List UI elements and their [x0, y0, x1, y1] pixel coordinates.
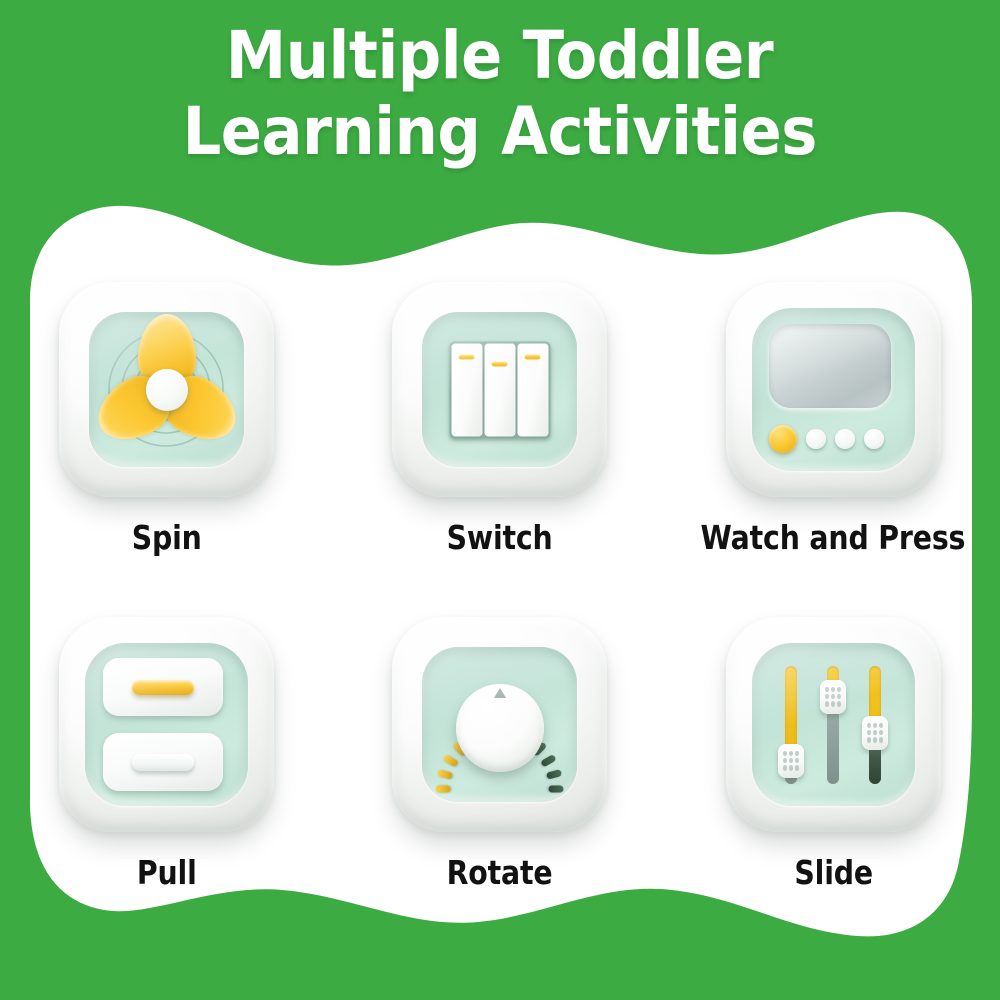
- slider-2[interactable]: [820, 666, 846, 784]
- knob-tick: [546, 769, 562, 780]
- rocker-switch-1[interactable]: [451, 343, 482, 436]
- slider-3[interactable]: [862, 666, 888, 784]
- tile-inner-panel: [85, 643, 248, 806]
- knob-tick: [437, 769, 453, 780]
- tile-inner-panel: [89, 312, 244, 467]
- press-button-1[interactable]: [806, 429, 826, 449]
- pull-panel-bottom[interactable]: [103, 733, 223, 791]
- activity-tile-pull[interactable]: [59, 617, 274, 832]
- page-header: Multiple Toddler Learning Activities: [0, 0, 1000, 200]
- activity-tile-slide[interactable]: [726, 617, 941, 832]
- knob-tick: [549, 785, 564, 792]
- knob-tick: [436, 785, 451, 792]
- activity-item-spin[interactable]: Spin: [17, 282, 317, 617]
- activity-item-rotate[interactable]: Rotate: [350, 617, 650, 952]
- tile-inner-panel: [752, 308, 915, 471]
- pull-panel-top[interactable]: [103, 658, 223, 716]
- press-button-2[interactable]: [835, 429, 855, 449]
- rocker-switch-3[interactable]: [517, 343, 548, 436]
- activity-tile-spin[interactable]: [59, 282, 274, 497]
- rocker-switch-2[interactable]: [484, 343, 515, 436]
- switch-indicator-icon: [492, 361, 508, 366]
- activity-tile-watch-and-press[interactable]: [726, 282, 941, 497]
- activity-item-slide[interactable]: Slide: [683, 617, 983, 952]
- rocker-switch-icon[interactable]: [449, 341, 550, 438]
- page-title-line-1: Multiple Toddler: [226, 18, 773, 94]
- grip-texture-icon: [867, 723, 883, 743]
- tile-inner-panel: [422, 312, 577, 467]
- activity-item-watch-and-press[interactable]: Watch and Press: [683, 282, 983, 617]
- switch-indicator-icon: [459, 354, 475, 359]
- activity-label-watch-and-press: Watch and Press: [701, 519, 966, 557]
- fan-hub-icon: [146, 369, 188, 411]
- slider-fader-icon: [752, 643, 915, 806]
- activity-grid: Spin Switch: [0, 282, 1000, 952]
- knob-tick: [541, 753, 557, 767]
- knob-pointer-icon: [494, 688, 506, 698]
- press-button-3[interactable]: [864, 429, 884, 449]
- activity-tile-rotate[interactable]: [392, 617, 607, 832]
- activity-label-rotate: Rotate: [447, 854, 553, 892]
- slider-thumb[interactable]: [820, 680, 846, 714]
- page-title-line-2: Learning Activities: [183, 94, 817, 170]
- slider-1[interactable]: [778, 666, 804, 784]
- slider-thumb[interactable]: [862, 716, 888, 750]
- tv-button-row: [769, 423, 891, 455]
- rotary-knob-icon[interactable]: [456, 684, 544, 772]
- press-button-yellow[interactable]: [769, 425, 797, 453]
- activity-item-pull[interactable]: Pull: [17, 617, 317, 952]
- tv-screen-icon: [769, 324, 891, 408]
- activity-label-slide: Slide: [794, 854, 873, 892]
- activity-label-pull: Pull: [137, 854, 197, 892]
- activity-label-spin: Spin: [132, 519, 202, 557]
- slider-thumb[interactable]: [778, 744, 804, 778]
- grip-texture-icon: [783, 751, 799, 771]
- activity-item-switch[interactable]: Switch: [350, 282, 650, 617]
- activity-label-switch: Switch: [447, 519, 553, 557]
- switch-indicator-icon: [525, 354, 541, 359]
- slider-fill: [869, 746, 881, 784]
- grip-texture-icon: [825, 687, 841, 707]
- tile-inner-panel: [752, 643, 915, 806]
- knob-tick: [443, 753, 459, 767]
- pull-handle-yellow-icon[interactable]: [132, 680, 194, 695]
- activity-tile-switch[interactable]: [392, 282, 607, 497]
- tile-inner-panel: [422, 647, 577, 802]
- pull-handle-white-icon[interactable]: [132, 754, 194, 771]
